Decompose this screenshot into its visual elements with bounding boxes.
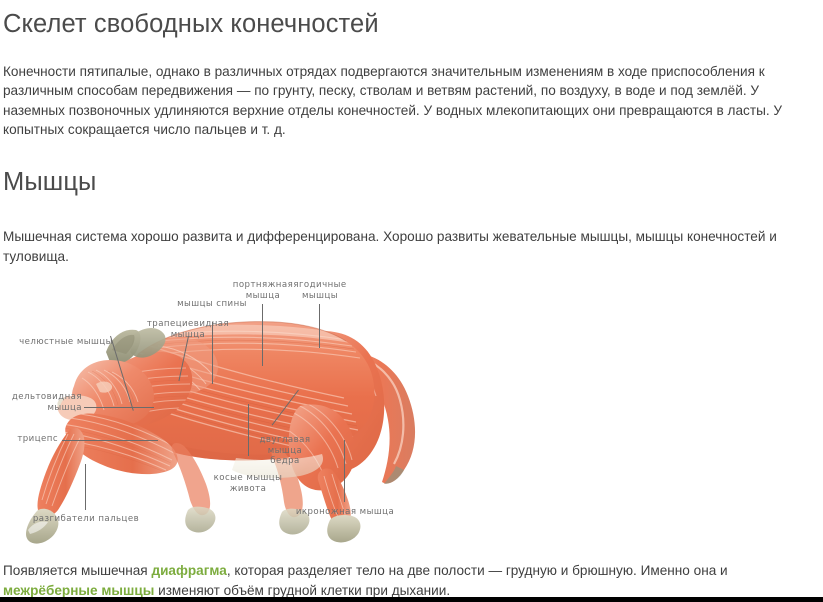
paragraph-diaphragm: Появляется мышечная диафрагма, которая р… xyxy=(3,561,819,600)
leader-line-finger-extensors xyxy=(85,464,86,510)
leader-line-sartorius xyxy=(262,304,263,366)
leader-line-deltoid xyxy=(84,407,154,408)
link-intercostal-muscles[interactable]: межрёберные мышцы xyxy=(3,583,154,598)
diaphragm-text-part1: Появляется мышечная xyxy=(3,563,151,578)
bottom-bar xyxy=(0,597,823,602)
figure-label-biceps-femoris: двуглавая мышца бедра xyxy=(240,435,330,467)
link-diaphragm[interactable]: диафрагма xyxy=(151,563,226,578)
leader-line-gastrocnemius xyxy=(344,440,345,502)
figure-label-trapezius: трапециевидная мышца xyxy=(130,319,246,340)
figure-label-oblique-abdominal: косые мышцы живота xyxy=(200,473,296,494)
paragraph-muscles-intro: Мышечная система хорошо развита и диффер… xyxy=(3,227,819,266)
diaphragm-text-part2: , которая разделяет тело на две полости … xyxy=(227,563,728,578)
figure-label-deltoid: дельтовидная мышца xyxy=(0,392,82,413)
article-page: Скелет свободных конечностей Конечности … xyxy=(0,0,823,602)
page-title: Скелет свободных конечностей xyxy=(3,0,819,40)
section-heading-muscles: Мышцы xyxy=(3,167,819,198)
figure-label-finger-extensors: разгибатели пальцев xyxy=(28,514,144,525)
figure-label-gastrocnemius: икроножная мышца xyxy=(290,507,400,518)
figure-label-gluteal: ягодичные мышцы xyxy=(286,280,354,301)
diaphragm-text-part3: изменяют объём грудной клетки при дыхани… xyxy=(154,583,450,598)
figure-label-back: мышцы спины xyxy=(164,299,260,310)
figure-label-jaw: челюстные мышцы xyxy=(10,337,122,348)
figure-cat-musculature: портняжная мышца ягодичные мышцы мышцы с… xyxy=(0,274,823,549)
figure-label-triceps: трицепс xyxy=(0,434,58,445)
figure-inner: портняжная мышца ягодичные мышцы мышцы с… xyxy=(0,274,460,549)
leader-line-triceps xyxy=(62,440,158,441)
leader-line-gluteal xyxy=(319,304,320,348)
paragraph-limbs: Конечности пятипалые, однако в различных… xyxy=(3,62,819,140)
